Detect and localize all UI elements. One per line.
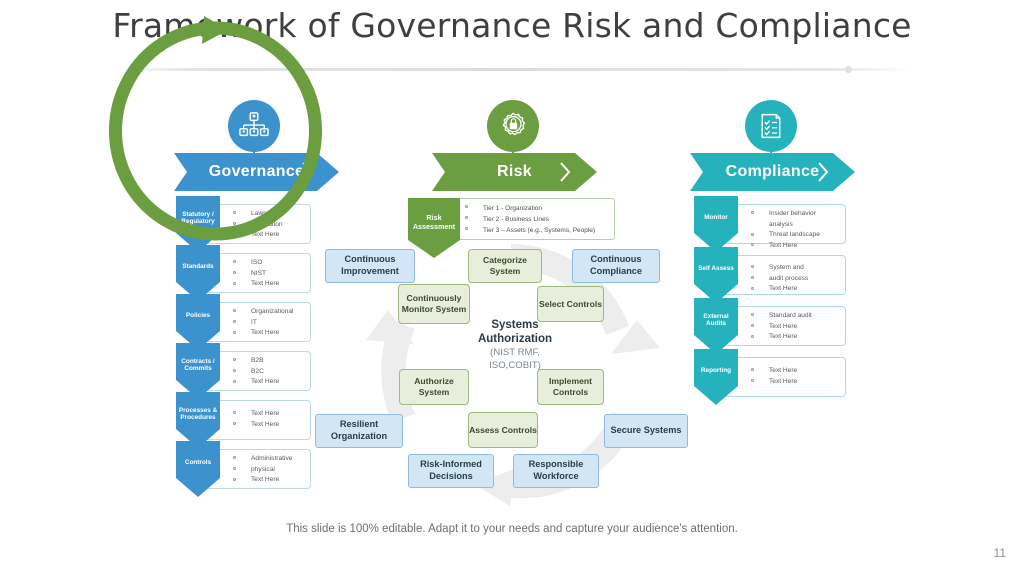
list-item: Tier 1 - Organization [463,203,610,214]
list-item: Threat landscape [747,230,839,241]
chevron-right-icon [560,162,571,182]
list-item: Text Here [747,322,839,333]
cycle-step-label: Authorize System [400,376,468,398]
outcome-continuous-improvement[interactable]: Continuous Improvement [325,249,415,283]
list-item-cont: audit process [747,274,839,285]
authorization-cycle-ring [96,6,336,256]
governance-row-1[interactable]: ISO NIST Text Here Standards [176,253,311,293]
gear-lock-icon [498,111,528,141]
cycle-step-select-controls[interactable]: Select Controls [537,286,604,322]
governance-row-3-tab-label: Contracts / Commits [177,358,219,373]
list-item: B2B [229,356,304,367]
list-item: Standard audit [747,311,839,322]
governance-row-4-tab-label: Processes & Procedures [177,407,219,422]
governance-row-1-tab-label: Standards [182,263,213,270]
compliance-row-0-tab-label: Monitor [704,214,727,221]
hub-title-line1: Systems [440,318,590,332]
list-item: Text Here [747,377,839,388]
list-item: Text Here [229,328,304,339]
cycle-step-label: Categorize System [469,255,541,277]
outcome-label: Responsible Workforce [514,459,598,483]
cycle-step-assess-controls[interactable]: Assess Controls [468,412,538,448]
page-number: 11 [994,546,1006,560]
hub-title-line2: Authorization [440,332,590,346]
list-item: physical [229,465,304,476]
risk-banner-label: Risk [497,163,532,181]
list-item: Text Here [229,409,304,420]
outcome-label: Resilient Organization [316,419,402,443]
slide-canvas: Framework of Governance Risk and Complia… [0,0,1024,576]
list-item: Text Here [747,241,839,252]
governance-row-5[interactable]: Administrative physical Text Here Contro… [176,449,311,489]
hub-subtitle-line1: (NIST RMF, [440,347,590,359]
cycle-step-label: Implement Controls [538,376,603,398]
list-item: B2C [229,367,304,378]
cycle-step-authorize-system[interactable]: Authorize System [399,369,469,405]
list-item: Insider behavior analysis [747,209,839,230]
list-item: Organizational [229,307,304,318]
outcome-continuous-compliance[interactable]: Continuous Compliance [572,249,660,283]
list-item: Text Here [229,377,304,388]
cycle-step-label: Select Controls [539,299,602,310]
outcome-label: Secure Systems [611,425,682,437]
outcome-label: Risk-Informed Decisions [409,459,493,483]
chevron-right-icon [818,162,829,182]
list-item: Tier 2 - Business Lines [463,214,610,225]
list-item: Text Here [229,475,304,486]
list-item: Text Here [747,366,839,377]
risk-icon-badge [487,100,539,152]
list-item: Tier 3 – Assets (e.g., Systems, People) [463,225,610,236]
governance-row-2-tab-label: Policies [186,312,210,319]
cycle-step-label: Continuously Monitor System [399,293,469,315]
list-item: ISO [229,258,304,269]
list-item: Administrative [229,454,304,465]
checklist-document-icon [757,112,785,140]
cycle-hub: Systems Authorization (NIST RMF, ISO,COB… [440,318,590,371]
footer-note: This slide is 100% editable. Adapt it to… [0,523,1024,535]
outcome-label: Continuous Improvement [326,254,414,278]
risk-banner[interactable]: Risk [432,153,597,191]
list-item: Text Here [229,279,304,290]
risk-assessment-tab-label: Risk Assessment [408,214,460,231]
cycle-step-implement-controls[interactable]: Implement Controls [537,369,604,405]
governance-row-2[interactable]: Organizational IT Text Here Policies [176,302,311,342]
compliance-icon-badge [745,100,797,152]
outcome-resilient-organization[interactable]: Resilient Organization [315,414,403,448]
outcome-label: Continuous Compliance [573,254,659,278]
list-item: IT [229,318,304,329]
list-item: Text Here [229,420,304,431]
compliance-banner[interactable]: Compliance [690,153,855,191]
hub-subtitle-line2: ISO,COBIT) [440,360,590,372]
list-item: NIST [229,269,304,280]
compliance-banner-label: Compliance [726,163,820,181]
list-item: System and [747,263,839,274]
governance-row-4[interactable]: Text Here Text Here Processes & Procedur… [176,400,311,440]
cycle-step-categorize-system[interactable]: Categorize System [468,249,542,283]
outcome-responsible-workforce[interactable]: Responsible Workforce [513,454,599,488]
list-item: Text Here [747,284,839,295]
risk-assessment-card: Tier 1 - Organization Tier 2 - Business … [440,198,615,240]
governance-row-3[interactable]: B2B B2C Text Here Contracts / Commits [176,351,311,391]
outcome-secure-systems[interactable]: Secure Systems [604,414,688,448]
outcome-risk-informed-decisions[interactable]: Risk-Informed Decisions [408,454,494,488]
list-item: Text Here [747,332,839,343]
governance-row-5-tab-label: Controls [185,459,211,466]
cycle-step-label: Assess Controls [469,425,537,436]
